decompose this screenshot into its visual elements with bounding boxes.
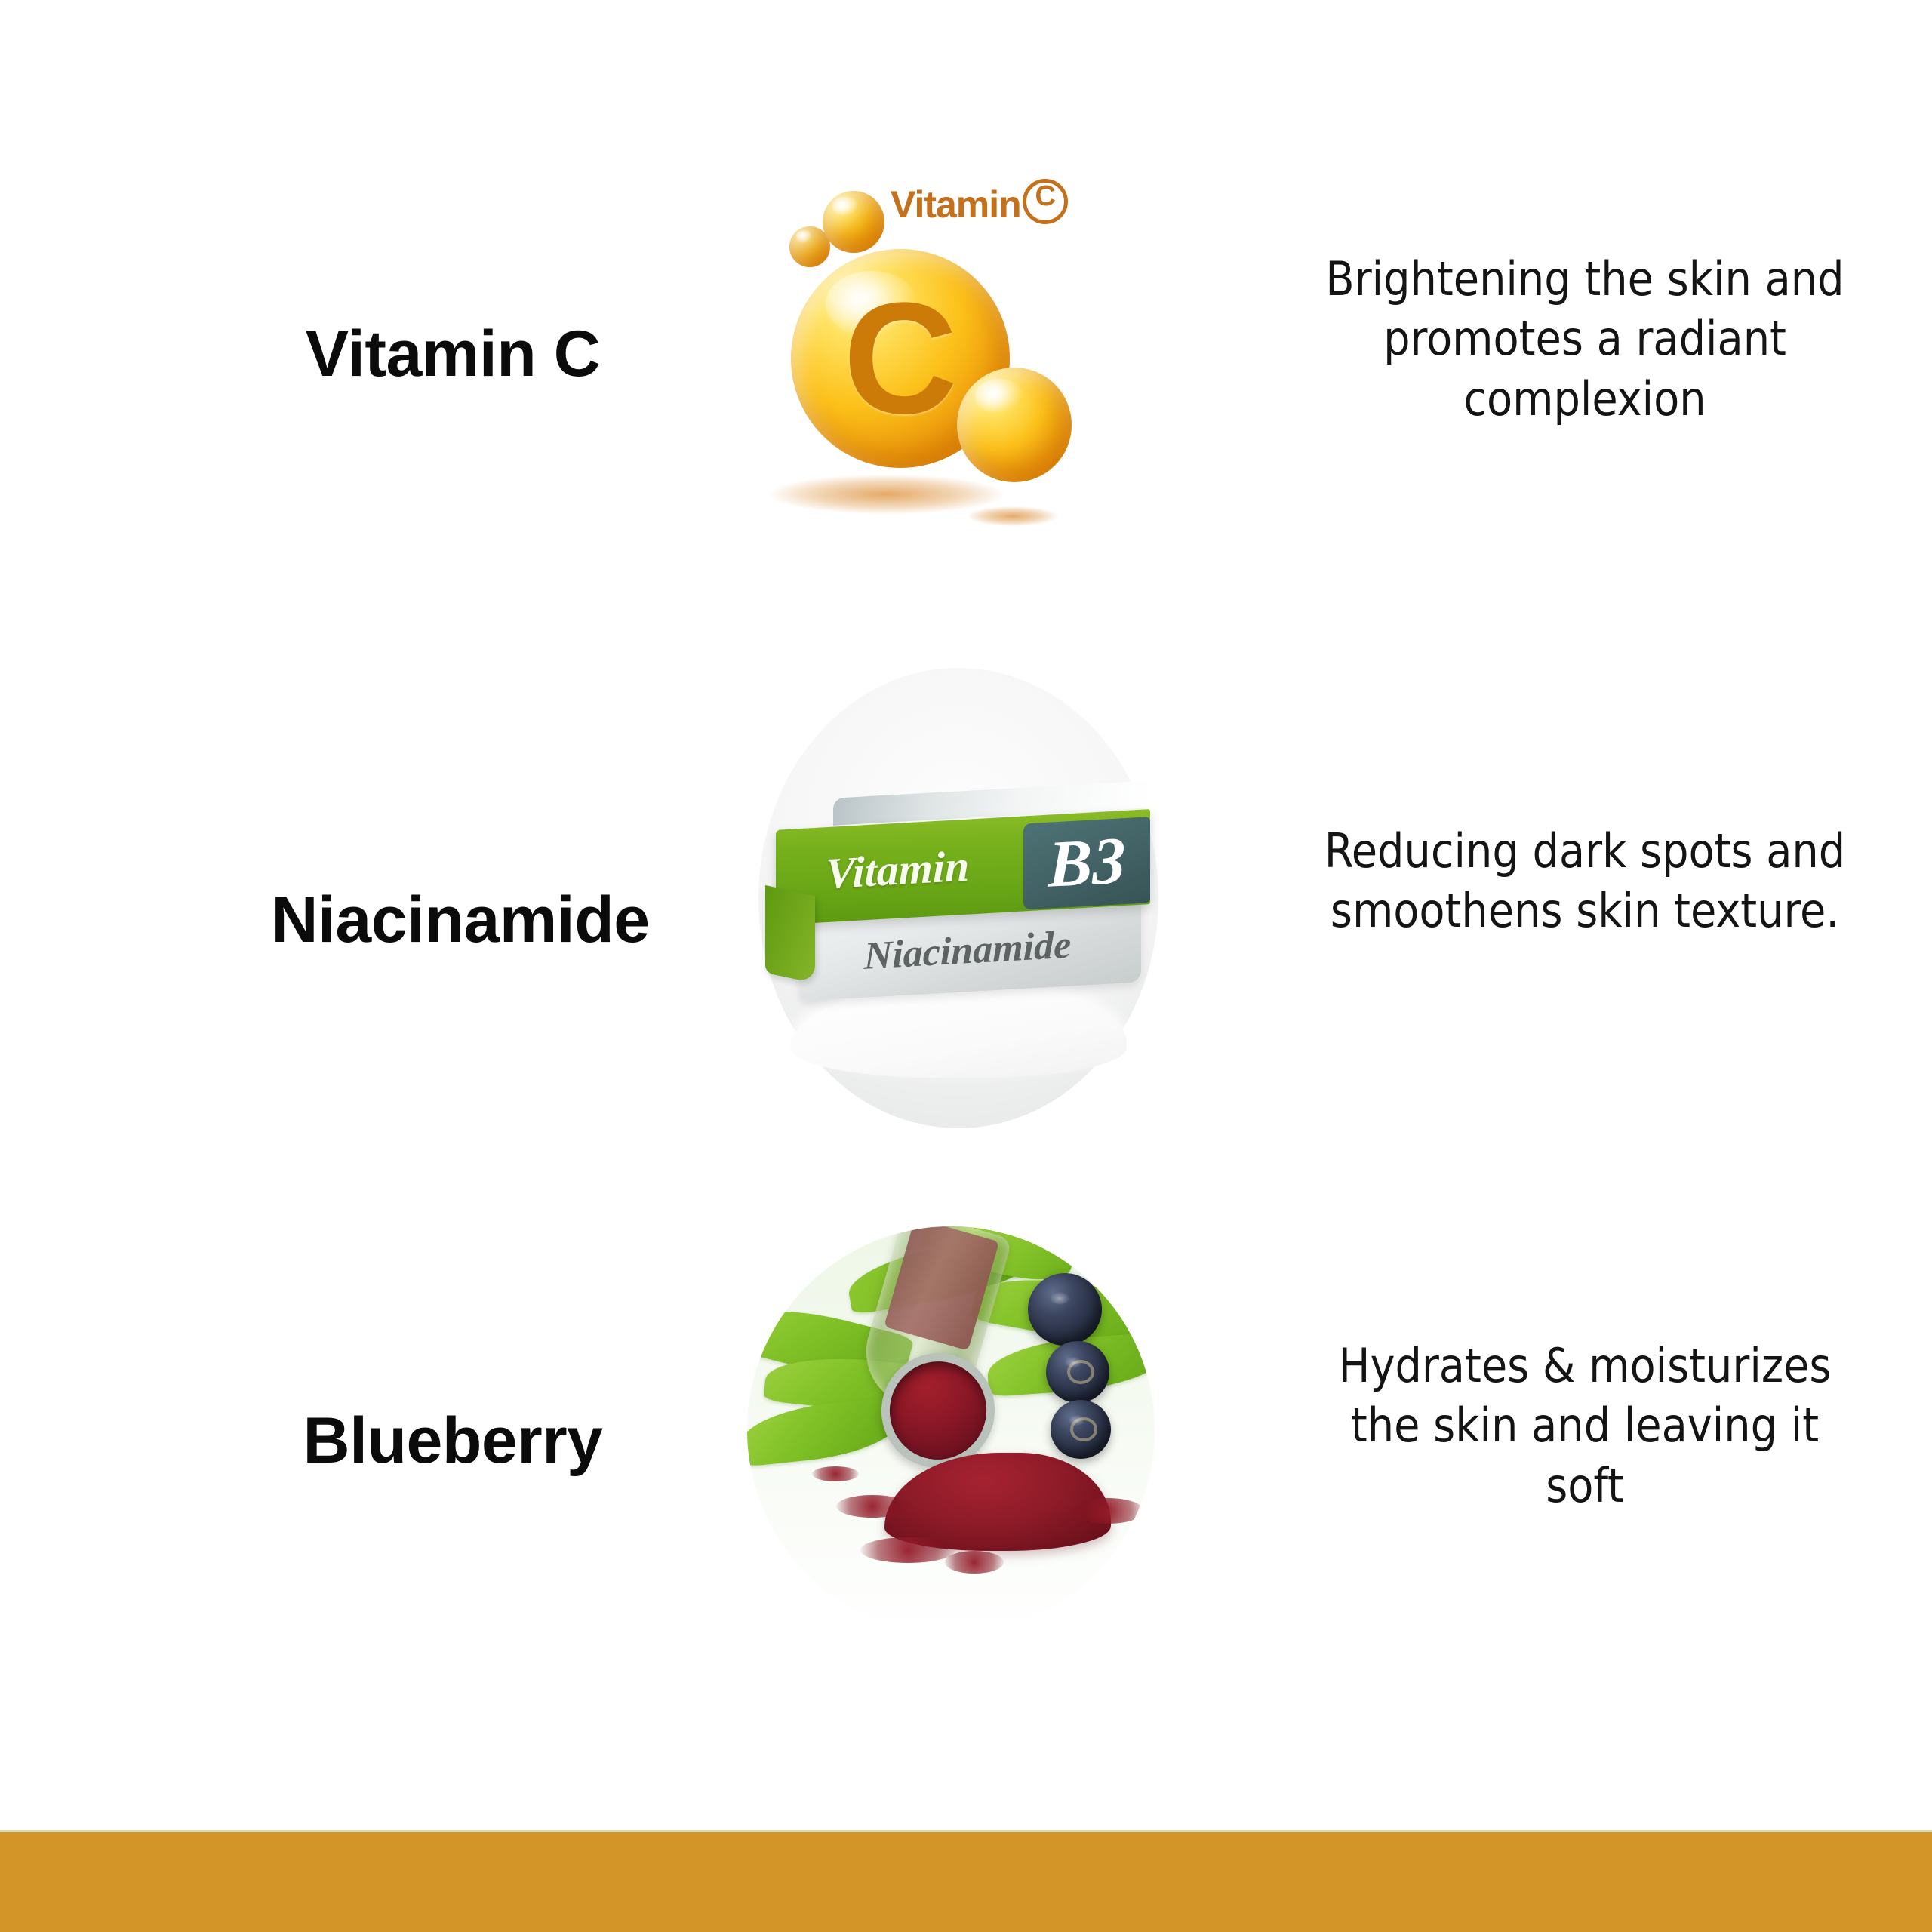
- blueberry-icon: [1046, 1341, 1109, 1403]
- ingredient-title-blueberry: Blueberry: [136, 1404, 770, 1478]
- b3-lower-label: Niacinamide: [800, 919, 1135, 983]
- blueberry-disc-image: [747, 1226, 1155, 1634]
- powder-dust: [860, 1537, 955, 1563]
- powder-dust: [812, 1466, 859, 1481]
- blueberry-graphic: [747, 1226, 1155, 1679]
- blueberry-icon: [1051, 1400, 1111, 1459]
- berry-powder-pile: [884, 1453, 1111, 1551]
- b3-ribbon: Niacinamide Vitamin B3: [768, 806, 1152, 995]
- droplet-bubble-right-icon: [957, 368, 1072, 482]
- vitamin-b3-graphic: Niacinamide Vitamin B3: [755, 664, 1162, 1132]
- b3-badge-label: B3: [1023, 817, 1150, 909]
- tube-powder-fill: [884, 1226, 999, 1351]
- ingredient-title-vitamin-c: Vitamin C: [136, 317, 770, 392]
- vitamin-c-stage: C Vitamin: [762, 170, 1162, 547]
- vitamin-c-wordmark: Vitamin: [891, 179, 1068, 226]
- ingredient-row-niacinamide: Niacinamide Niacinamide Vitamin B3 Reduc…: [0, 649, 1932, 1223]
- powder-dust: [1072, 1498, 1144, 1524]
- berry-crown-icon: [1067, 1360, 1095, 1385]
- ingredient-row-blueberry: Blueberry: [0, 1223, 1932, 1830]
- ingredient-description-blueberry: Hydrates & moisturizes the skin and leav…: [1313, 1336, 1857, 1515]
- ingredient-row-vitamin-c: Vitamin C C Vitamin Brightening the skin…: [0, 0, 1932, 649]
- infographic-canvas: Vitamin C C Vitamin Brightening the skin…: [0, 0, 1932, 1932]
- blueberry-icon: [1028, 1273, 1102, 1346]
- vitamin-c-graphic: C Vitamin: [762, 170, 1162, 547]
- footer-accent-bar: [0, 1830, 1932, 1932]
- ingredient-description-niacinamide: Reducing dark spots and smoothens skin t…: [1313, 821, 1857, 941]
- b3-badge: B3: [1023, 817, 1150, 909]
- ingredient-title-niacinamide: Niacinamide: [136, 883, 785, 958]
- droplet-shadow-small-icon: [968, 506, 1058, 526]
- footer-hairline: [0, 1830, 1932, 1832]
- b3-band-label: Vitamin: [826, 841, 969, 900]
- powder-dust: [945, 1551, 1004, 1574]
- b3-ribbon-fold: [765, 885, 815, 983]
- vitamin-c-wordmark-text: Vitamin: [891, 183, 1021, 226]
- powder-dust: [836, 1495, 909, 1518]
- circled-c-icon: [1023, 179, 1068, 224]
- leaf-icon: [747, 1396, 903, 1467]
- ingredient-description-vitamin-c: Brightening the skin and promotes a radi…: [1313, 249, 1857, 429]
- berry-crown-icon: [1070, 1417, 1097, 1441]
- droplet-shadow-large-icon: [770, 475, 1004, 514]
- droplet-bubble-top-icon: [823, 191, 884, 253]
